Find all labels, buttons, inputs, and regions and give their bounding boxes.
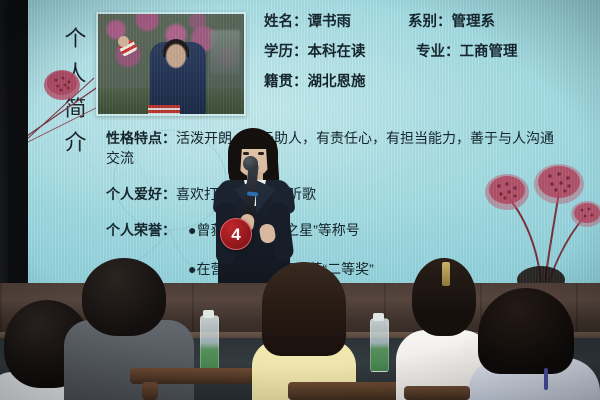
info-label-department: 系别： bbox=[408, 14, 452, 30]
detail-row-honors: 个人荣誉： ●曾获“优秀社团之星”等称号 bbox=[106, 220, 600, 240]
photo-graduate-face bbox=[166, 44, 186, 68]
info-row: 籍贯：湖北恩施 bbox=[264, 70, 600, 100]
info-value-hometown: 湖北恩施 bbox=[308, 74, 366, 90]
detail-row-hobbies: 个人爱好：喜欢打球，跑步，听歌 bbox=[106, 184, 600, 204]
info-value-name: 谭书雨 bbox=[308, 14, 352, 30]
info-row: 学历：本科在读 专业：工商管理 bbox=[264, 40, 600, 70]
slide-vertical-title: 个 人 简 介 bbox=[56, 22, 96, 161]
lanyard-icon bbox=[544, 368, 548, 390]
photo-gown-stripes bbox=[148, 105, 180, 114]
slide-detail-block: 性格特点：活泼开朗，乐于助人，有责任心，有担当能力，善于与人沟通 交流 个人爱好… bbox=[106, 128, 600, 279]
info-label-education: 学历： bbox=[264, 44, 308, 60]
info-label-name: 姓名： bbox=[264, 14, 308, 30]
hair-clip-icon bbox=[442, 262, 450, 286]
presenter-eye-right bbox=[258, 152, 264, 155]
title-char-3: 简 bbox=[64, 92, 87, 127]
title-char-2: 人 bbox=[64, 57, 87, 92]
title-char-4: 介 bbox=[64, 126, 87, 161]
info-value-department: 管理系 bbox=[452, 14, 496, 30]
presenter-eye-left bbox=[243, 152, 249, 155]
water-bottle-cap bbox=[373, 313, 384, 321]
audience-head bbox=[262, 262, 346, 356]
detail-label-honors: 个人荣誉： bbox=[106, 220, 176, 240]
audience-head bbox=[82, 258, 166, 336]
detail-label-hobbies: 个人爱好： bbox=[106, 186, 176, 202]
detail-label-personality: 性格特点： bbox=[106, 130, 176, 146]
info-value-education: 本科在读 bbox=[308, 44, 366, 60]
presenter-hair-right bbox=[265, 140, 279, 185]
audience-head bbox=[478, 288, 574, 374]
detail-value-personality-line2: 交流 bbox=[106, 148, 600, 168]
info-label-hometown: 籍贯： bbox=[264, 74, 308, 90]
info-row: 姓名：谭书雨 系别：管理系 bbox=[264, 10, 600, 40]
wooden-bench bbox=[404, 386, 470, 400]
info-label-major: 专业： bbox=[416, 44, 460, 60]
water-bottle bbox=[370, 318, 389, 372]
projector-screen-bezel: 个 人 简 介 bbox=[8, 0, 600, 292]
photo-graduate-hand bbox=[118, 36, 129, 47]
title-char-1: 个 bbox=[64, 22, 87, 57]
slide-info-grid: 姓名：谭书雨 系别：管理系 学历：本科在读 专业：工商管理 籍贯：湖北恩施 bbox=[264, 10, 600, 100]
info-value-major: 工商管理 bbox=[460, 44, 518, 60]
water-bottle bbox=[200, 315, 219, 375]
bench-leg bbox=[142, 382, 158, 400]
screenshot-root: 个 人 简 介 bbox=[0, 0, 600, 400]
photo-building bbox=[210, 30, 240, 74]
contestant-number-badge: 4 bbox=[220, 218, 252, 250]
projector-screen: 个 人 简 介 bbox=[28, 0, 600, 286]
wooden-bench bbox=[288, 382, 408, 400]
water-bottle-cap bbox=[203, 310, 214, 318]
slide-photo bbox=[96, 12, 246, 116]
detail-row-personality: 性格特点：活泼开朗，乐于助人，有责任心，有担当能力，善于与人沟通 交流 bbox=[106, 128, 600, 168]
